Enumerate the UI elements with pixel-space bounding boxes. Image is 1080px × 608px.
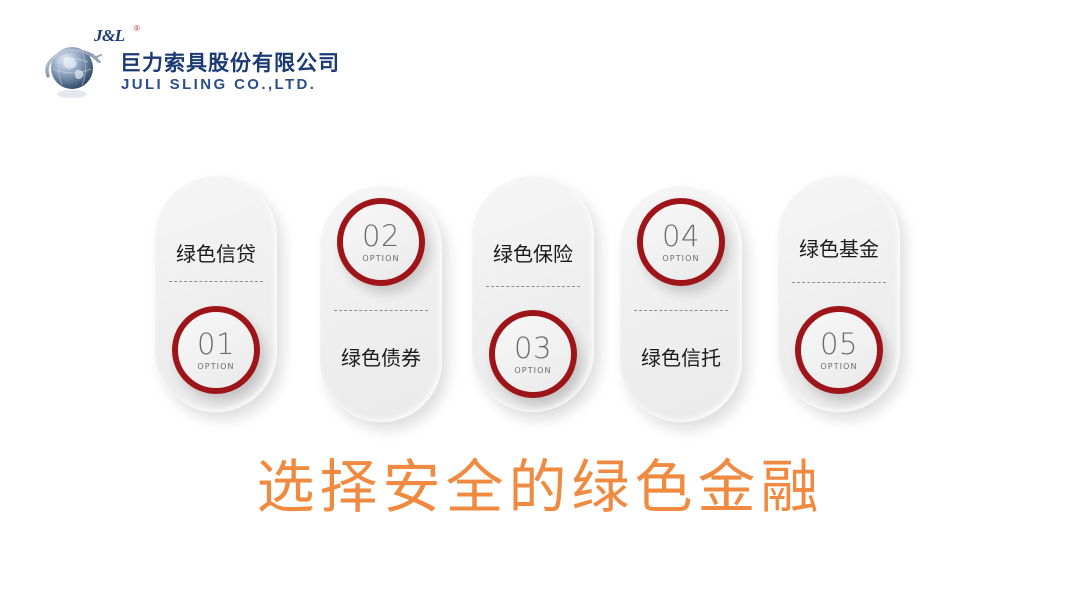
option-badge-4[interactable]: 04 OPTION [637,198,725,286]
option-badge-5[interactable]: 05 OPTION [795,306,883,394]
option-divider-4 [634,310,728,311]
option-number-3: 03 [514,334,552,363]
option-label-3: 绿色保险 [472,238,594,267]
option-sublabel-2: OPTION [362,254,399,263]
option-divider-1 [169,281,263,282]
option-divider-3 [486,286,580,287]
option-label-1: 绿色信贷 [155,238,277,267]
slide-title: 选择安全的绿色金融 [0,440,1080,524]
option-sublabel-5: OPTION [820,362,857,371]
option-divider-5 [792,282,886,283]
option-label-5: 绿色基金 [778,233,900,262]
option-number-5: 05 [820,330,858,359]
option-sublabel-4: OPTION [662,254,699,263]
option-badge-2[interactable]: 02 OPTION [337,198,425,286]
option-badge-3[interactable]: 03 OPTION [489,310,577,398]
option-label-2: 绿色债券 [320,342,442,371]
option-number-4: 04 [662,222,700,251]
option-divider-2 [334,310,428,311]
option-badge-1[interactable]: 01 OPTION [172,306,260,394]
option-sublabel-3: OPTION [514,366,551,375]
option-number-2: 02 [362,222,400,251]
option-number-1: 01 [197,330,235,359]
option-sublabel-1: OPTION [197,362,234,371]
option-label-4: 绿色信托 [620,342,742,371]
